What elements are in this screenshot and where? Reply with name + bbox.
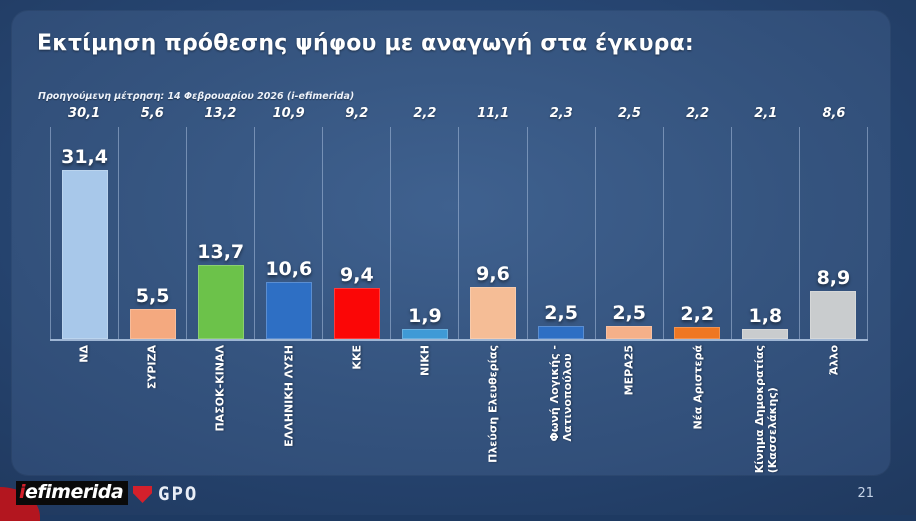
bar-value-label: 9,4 [340, 265, 374, 285]
chart-category-labels: ΝΔΣΥΡΙΖΑΠΑΣΟΚ-ΚΙΝΑΛΕΛΛΗΝΙΚΗ ΛΥΣΗΚΚΕΝΙΚΗΠ… [50, 341, 868, 455]
gpo-logo-text: GPO [158, 485, 198, 504]
previous-value-label: 2,5 [595, 105, 663, 127]
bar[interactable] [334, 288, 380, 339]
category-label-cell: ΠΑΣΟΚ-ΚΙΝΑΛ [186, 341, 254, 455]
category-label-cell: Άλλο [800, 341, 868, 455]
category-label-cell: Φωνή Λογικής - Λατινοπούλου [527, 341, 595, 455]
category-label-cell: Νέα Αριστερά [664, 341, 732, 455]
previous-value-label: 5,6 [118, 105, 186, 127]
bar-column[interactable]: 10,6 [254, 127, 322, 339]
bar-column[interactable]: 2,5 [527, 127, 595, 339]
category-label: ΠΑΣΟΚ-ΚΙΝΑΛ [214, 345, 227, 432]
bar-column[interactable]: 1,9 [390, 127, 458, 339]
category-label: Πλεύση Ελευθερίας [487, 345, 500, 463]
bar[interactable] [402, 329, 448, 339]
bar-value-label: 5,5 [136, 286, 170, 306]
category-label: Άλλο [827, 345, 840, 375]
bar[interactable] [606, 326, 652, 339]
bar-column[interactable]: 2,2 [663, 127, 731, 339]
previous-value-label: 2,3 [527, 105, 595, 127]
bar-column[interactable]: 9,6 [458, 127, 526, 339]
bar[interactable] [810, 291, 856, 339]
page-title: Εκτίμηση πρόθεσης ψήφου με αναγωγή στα έ… [37, 31, 694, 56]
bar-value-label: 2,5 [544, 303, 578, 323]
bar-value-label: 2,5 [612, 303, 646, 323]
category-label: ΕΛΛΗΝΙΚΗ ΛΥΣΗ [282, 345, 295, 447]
bar[interactable] [62, 170, 108, 339]
bar-value-label: 2,2 [680, 304, 714, 324]
category-label: Φωνή Λογικής - Λατινοπούλου [548, 345, 574, 441]
previous-measurement-row: 30,15,613,210,99,22,211,12,32,52,22,18,6 [50, 105, 868, 127]
bar-column[interactable]: 9,4 [322, 127, 390, 339]
bar-chart: 30,15,613,210,99,22,211,12,32,52,22,18,6… [50, 105, 868, 455]
category-label-cell: ΣΥΡΙΖΑ [118, 341, 186, 455]
previous-value-label: 2,2 [391, 105, 459, 127]
iefimerida-logo: iefimerida [16, 481, 128, 505]
bar[interactable] [266, 282, 312, 339]
bar[interactable] [130, 309, 176, 339]
previous-value-label: 2,2 [664, 105, 732, 127]
previous-value-label: 30,1 [50, 105, 118, 127]
previous-value-label: 11,1 [459, 105, 527, 127]
previous-value-label: 10,9 [255, 105, 323, 127]
category-label: Νέα Αριστερά [691, 345, 704, 430]
category-label: ΜΕΡΑ25 [623, 345, 636, 395]
category-label-cell: ΝΔ [50, 341, 118, 455]
bar-value-label: 1,9 [408, 306, 442, 326]
bar-value-label: 8,9 [817, 268, 851, 288]
gpo-chevron-icon [133, 486, 152, 503]
chart-plot-area: 31,45,513,710,69,41,99,62,52,52,21,88,9 [50, 127, 868, 341]
previous-value-label: 2,1 [732, 105, 800, 127]
bar-column[interactable]: 8,9 [799, 127, 868, 339]
category-label: ΣΥΡΙΖΑ [146, 345, 159, 389]
previous-value-label: 8,6 [800, 105, 868, 127]
bar-column[interactable]: 13,7 [186, 127, 254, 339]
slide-footer: iefimerida GPO 21 [0, 475, 916, 515]
previous-value-label: 13,2 [186, 105, 254, 127]
bar-value-label: 1,8 [748, 306, 782, 326]
category-label-cell: ΕΛΛΗΝΙΚΗ ΛΥΣΗ [255, 341, 323, 455]
bar-value-label: 31,4 [61, 147, 108, 167]
slide-background: Εκτίμηση πρόθεσης ψήφου με αναγωγή στα έ… [0, 0, 916, 515]
bar-column[interactable]: 5,5 [118, 127, 186, 339]
category-label: Κίνημα Δημοκρατίας (Κασσελάκης) [753, 345, 779, 473]
bar[interactable] [538, 326, 584, 339]
category-label: ΚΚΕ [350, 345, 363, 370]
category-label-cell: ΝΙΚΗ [391, 341, 459, 455]
bar[interactable] [674, 327, 720, 339]
page-number: 21 [857, 486, 874, 501]
bar-value-label: 9,6 [476, 264, 510, 284]
bar[interactable] [742, 329, 788, 339]
previous-value-label: 9,2 [323, 105, 391, 127]
category-label: ΝΙΚΗ [418, 345, 431, 376]
content-panel: Εκτίμηση πρόθεσης ψήφου με αναγωγή στα έ… [12, 11, 890, 475]
bar-column[interactable]: 31,4 [50, 127, 118, 339]
bar-column[interactable]: 1,8 [731, 127, 799, 339]
bar[interactable] [470, 287, 516, 339]
chart-subtitle: Προηγούμενη μέτρηση: 14 Φεβρουαρίου 2026… [38, 91, 354, 102]
bar-value-label: 10,6 [265, 259, 312, 279]
bar[interactable] [198, 265, 244, 339]
iefimerida-logo-text: efimerida [25, 481, 123, 503]
bar-column[interactable]: 2,5 [595, 127, 663, 339]
category-label: ΝΔ [78, 345, 91, 363]
gpo-logo: GPO [133, 485, 198, 504]
category-label-cell: ΚΚΕ [323, 341, 391, 455]
category-label-cell: ΜΕΡΑ25 [595, 341, 663, 455]
category-label-cell: Πλεύση Ελευθερίας [459, 341, 527, 455]
bar-value-label: 13,7 [197, 242, 244, 262]
category-label-cell: Κίνημα Δημοκρατίας (Κασσελάκης) [732, 341, 800, 455]
